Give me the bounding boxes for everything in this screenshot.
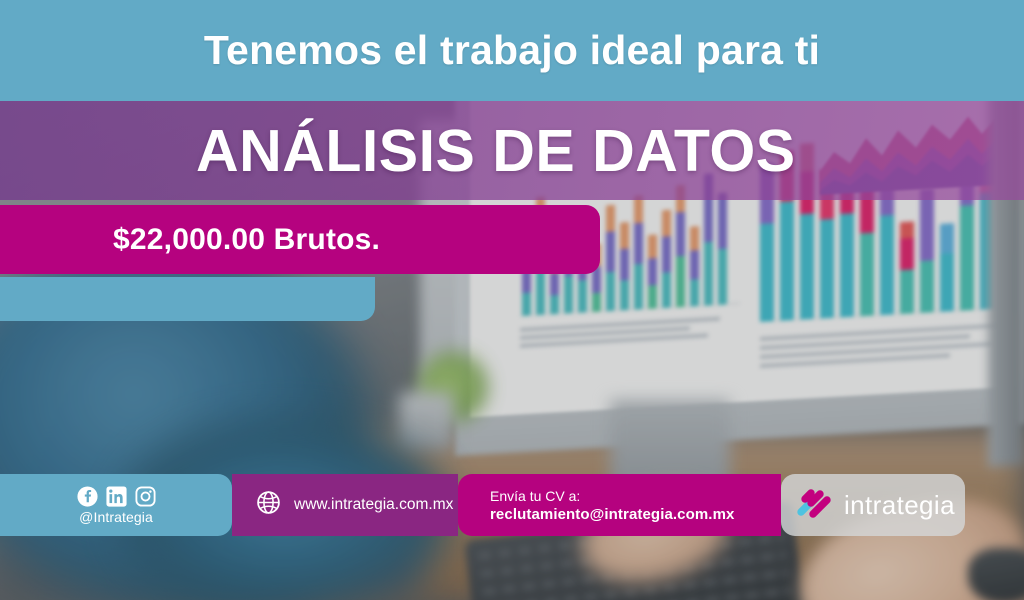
header-banner: Tenemos el trabajo ideal para ti (0, 0, 1024, 101)
footer-website-segment[interactable]: www.intrategia.com.mx (232, 474, 458, 536)
footer-cv-segment: Envía tu CV a: reclutamiento@intrategia.… (458, 474, 781, 536)
footer-logo-segment: intrategia (781, 474, 965, 536)
intrategia-logo-mark-icon (795, 486, 833, 525)
teal-accent-bar (0, 277, 375, 321)
facebook-icon[interactable] (77, 486, 98, 507)
globe-icon (256, 490, 281, 520)
salary-amount: $22,000.00 Brutos. (113, 223, 380, 257)
social-handle: @Intrategia (79, 509, 153, 525)
footer-social-segment: @Intrategia (0, 474, 232, 536)
job-title-band: ANÁLISIS DE DATOS (0, 101, 1024, 200)
cv-label: Envía tu CV a: (490, 488, 580, 504)
salary-bar: $22,000.00 Brutos. (0, 205, 600, 274)
social-icon-row (77, 486, 156, 507)
instagram-icon[interactable] (135, 486, 156, 507)
header-tagline: Tenemos el trabajo ideal para ti (204, 27, 820, 74)
job-title: ANÁLISIS DE DATOS (196, 117, 796, 185)
cv-email[interactable]: reclutamiento@intrategia.com.mx (490, 506, 734, 523)
intrategia-wordmark: intrategia (844, 490, 955, 521)
linkedin-icon[interactable] (106, 486, 127, 507)
footer-bar: @Intrategia www.intrategia.com.mx Envía … (0, 474, 1024, 536)
website-url: www.intrategia.com.mx (294, 496, 453, 514)
